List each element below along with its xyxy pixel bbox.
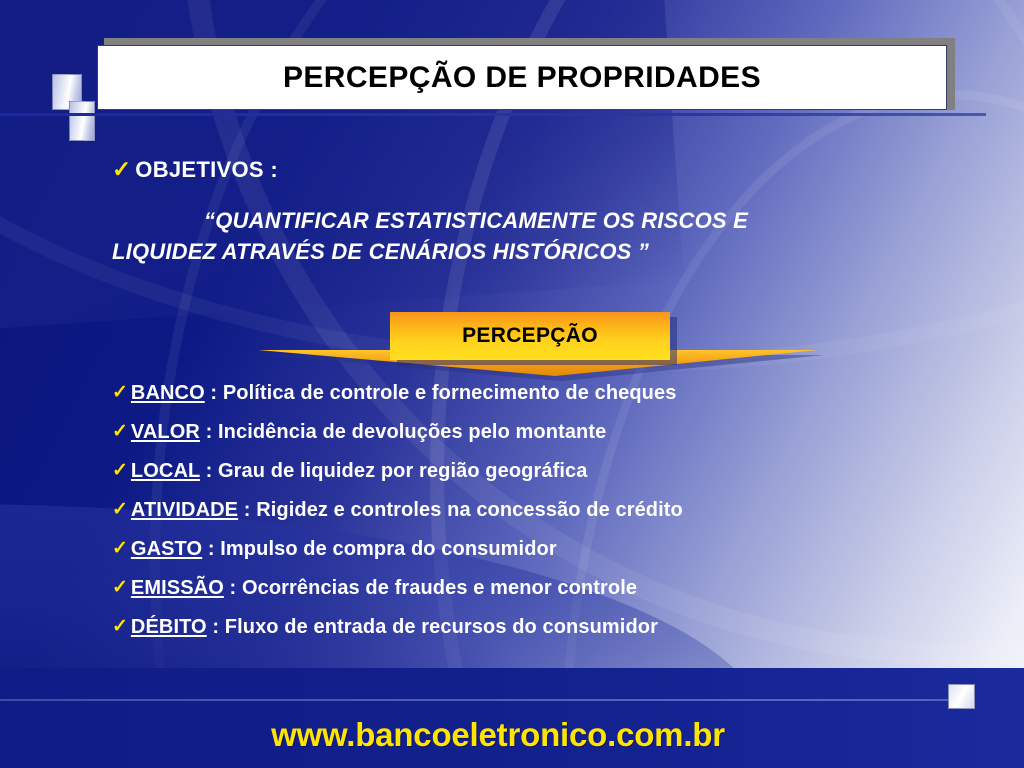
list-item: ✓ ATIVIDADE : Rigidez e controles na con… — [112, 499, 972, 522]
bullet-description: Incidência de devoluções pelo montante — [218, 421, 606, 443]
bullet-text: EMISSÃO : Ocorrências de fraudes e menor… — [131, 577, 637, 600]
list-item: ✓ BANCO : Política de controle e forneci… — [112, 382, 972, 405]
bullet-description: Ocorrências de fraudes e menor controle — [242, 577, 637, 599]
list-item: ✓ EMISSÃO : Ocorrências de fraudes e men… — [112, 577, 972, 600]
bullet-keyword: ATIVIDADE — [131, 499, 238, 521]
bullet-keyword: VALOR — [131, 421, 200, 443]
checkmark-icon: ✓ — [112, 539, 128, 558]
bullet-separator: : — [202, 538, 220, 560]
bullet-text: BANCO : Política de controle e fornecime… — [131, 382, 677, 405]
list-item: ✓ GASTO : Impulso de compra do consumido… — [112, 538, 972, 561]
footer-divider — [0, 699, 960, 701]
bullet-text: DÉBITO : Fluxo de entrada de recursos do… — [131, 616, 658, 639]
bullet-separator: : — [200, 421, 218, 443]
bullet-description: Grau de liquidez por região geográfica — [218, 460, 587, 482]
title-box: PERCEPÇÃO DE PROPRIDADES — [97, 45, 947, 110]
bullet-description: Política de controle e fornecimento de c… — [223, 382, 677, 404]
bullet-keyword: GASTO — [131, 538, 202, 560]
objectives-heading: ✓ OBJETIVOS : — [112, 158, 278, 181]
bullet-separator: : — [224, 577, 242, 599]
bullet-separator: : — [207, 616, 225, 638]
list-item: ✓ LOCAL : Grau de liquidez por região ge… — [112, 460, 972, 483]
checkmark-icon: ✓ — [112, 422, 128, 441]
list-item: ✓ DÉBITO : Fluxo de entrada de recursos … — [112, 616, 972, 639]
callout-label: PERCEPÇÃO — [462, 324, 598, 348]
objectives-quote: “QUANTIFICAR ESTATISTICAMENTE OS RISCOS … — [112, 205, 942, 267]
checkmark-icon: ✓ — [112, 461, 128, 480]
title-container: PERCEPÇÃO DE PROPRIDADES — [97, 38, 955, 112]
decorative-square-icon — [948, 684, 975, 709]
bullet-text: LOCAL : Grau de liquidez por região geog… — [131, 460, 588, 483]
bullet-description: Rigidez e controles na concessão de créd… — [256, 499, 683, 521]
callout-box: PERCEPÇÃO — [390, 312, 670, 360]
bullet-text: ATIVIDADE : Rigidez e controles na conce… — [131, 499, 683, 522]
decorative-cube-icon — [69, 101, 95, 141]
footer-website-url: www.bancoeletronico.com.br — [0, 716, 1024, 754]
bullet-description: Fluxo de entrada de recursos do consumid… — [225, 616, 658, 638]
bullet-separator: : — [238, 499, 256, 521]
bullet-text: GASTO : Impulso de compra do consumidor — [131, 538, 557, 561]
percepcao-callout: PERCEPÇÃO — [258, 310, 818, 370]
quote-line-1: “QUANTIFICAR ESTATISTICAMENTE OS RISCOS … — [204, 208, 748, 233]
checkmark-icon: ✓ — [112, 500, 128, 519]
checkmark-icon: ✓ — [112, 578, 128, 597]
page-title: PERCEPÇÃO DE PROPRIDADES — [283, 61, 761, 95]
bullet-keyword: DÉBITO — [131, 616, 207, 638]
presentation-slide: PERCEPÇÃO DE PROPRIDADES ✓ OBJETIVOS : “… — [0, 0, 1024, 768]
bullet-list: ✓ BANCO : Política de controle e forneci… — [112, 382, 972, 655]
bullet-separator: : — [205, 382, 223, 404]
quote-line-2: LIQUIDEZ ATRAVÉS DE CENÁRIOS HISTÓRICOS … — [112, 239, 649, 264]
list-item: ✓ VALOR : Incidência de devoluções pelo … — [112, 421, 972, 444]
bullet-keyword: LOCAL — [131, 460, 200, 482]
bullet-description: Impulso de compra do consumidor — [220, 538, 556, 560]
checkmark-icon: ✓ — [112, 617, 128, 636]
bullet-text: VALOR : Incidência de devoluções pelo mo… — [131, 421, 606, 444]
bullet-keyword: BANCO — [131, 382, 205, 404]
title-underline-rule — [0, 113, 986, 116]
bullet-keyword: EMISSÃO — [131, 577, 224, 599]
checkmark-icon: ✓ — [112, 158, 131, 181]
checkmark-icon: ✓ — [112, 383, 128, 402]
bullet-separator: : — [200, 460, 218, 482]
objectives-label: OBJETIVOS : — [135, 158, 278, 181]
